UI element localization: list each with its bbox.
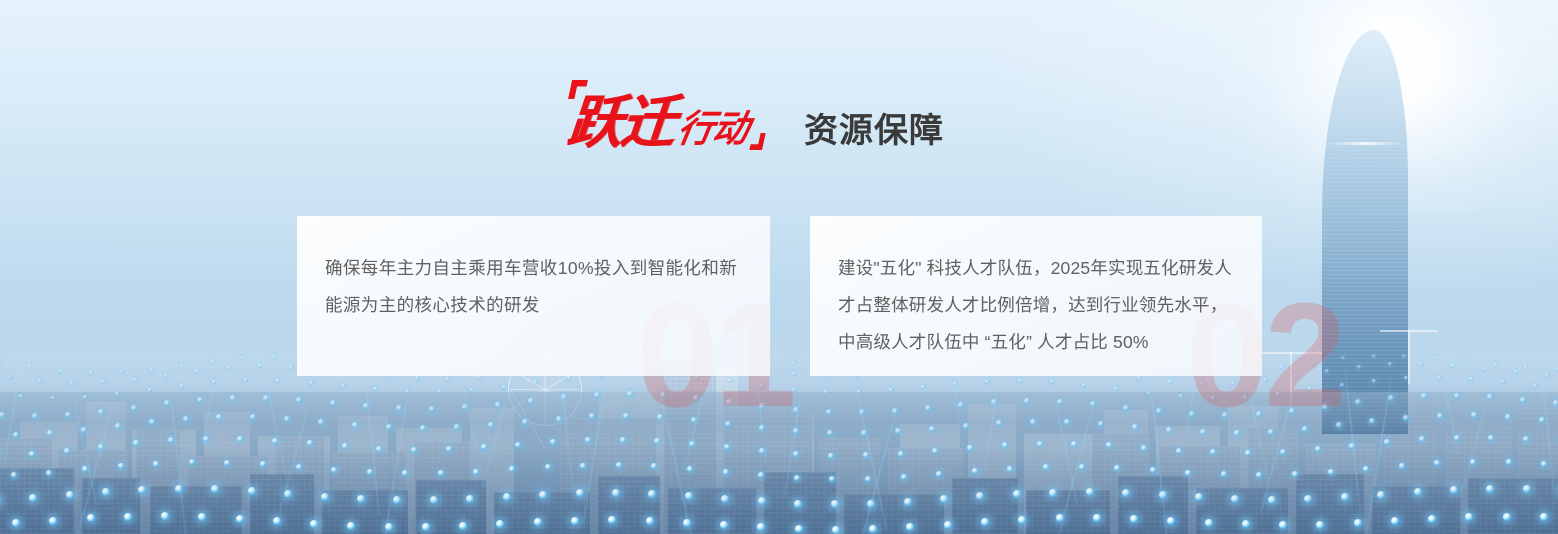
network-node-dot bbox=[906, 523, 914, 531]
network-node-dot bbox=[1024, 398, 1030, 404]
network-node-dot bbox=[161, 512, 169, 520]
network-node-dot bbox=[1486, 485, 1494, 493]
network-node-dot bbox=[180, 364, 184, 368]
network-node-dot bbox=[1056, 514, 1064, 522]
network-node-dot bbox=[958, 402, 964, 408]
network-node-dot bbox=[1553, 400, 1558, 406]
network-node-dot bbox=[1007, 466, 1013, 472]
network-node-dot bbox=[1355, 399, 1361, 405]
network-node-dot bbox=[567, 376, 571, 380]
network-node-dot bbox=[1279, 521, 1287, 529]
network-node-dot bbox=[1315, 446, 1321, 452]
network-node-dot bbox=[793, 407, 799, 413]
construction-crane bbox=[1408, 330, 1410, 384]
network-node-dot bbox=[1221, 471, 1227, 477]
network-node-dot bbox=[1520, 397, 1526, 403]
network-node-dot bbox=[150, 368, 154, 372]
network-node-dot bbox=[454, 424, 460, 430]
network-node-dot bbox=[585, 437, 591, 443]
network-node-dot bbox=[1433, 356, 1437, 360]
network-node-dot bbox=[832, 526, 840, 534]
network-node-dot bbox=[1388, 395, 1394, 401]
network-node-dot bbox=[793, 451, 799, 457]
city-skyline-background bbox=[0, 0, 1558, 534]
brand-logo-yueqian-xingdong: 跃迁 行动 bbox=[568, 96, 764, 150]
network-node-dot bbox=[944, 521, 952, 529]
network-node-dot bbox=[211, 360, 215, 364]
network-node-dot bbox=[51, 396, 55, 400]
network-node-dot bbox=[1372, 379, 1376, 383]
network-node-dot bbox=[310, 520, 318, 528]
network-node-dot bbox=[1086, 488, 1094, 496]
network-light-strand bbox=[2, 367, 21, 472]
network-node-dot bbox=[115, 392, 119, 396]
network-node-dot bbox=[1437, 413, 1443, 419]
network-node-dot bbox=[827, 430, 833, 436]
network-node-dot bbox=[1482, 367, 1486, 371]
network-node-dot bbox=[1434, 460, 1440, 466]
network-node-dot bbox=[230, 395, 236, 401]
network-node-dot bbox=[503, 493, 511, 501]
network-light-strand bbox=[1343, 358, 1362, 515]
network-node-dot bbox=[258, 364, 262, 368]
network-light-strand bbox=[853, 376, 888, 531]
network-node-dot bbox=[1399, 463, 1405, 469]
network-node-dot bbox=[502, 385, 506, 389]
network-node-dot bbox=[1341, 493, 1349, 501]
network-node-dot bbox=[32, 413, 38, 419]
network-node-dot bbox=[385, 523, 393, 531]
network-node-dot bbox=[539, 491, 547, 499]
network-node-dot bbox=[38, 379, 42, 383]
network-node-dot bbox=[687, 466, 693, 472]
network-light-strand bbox=[558, 358, 574, 489]
network-node-dot bbox=[1114, 387, 1118, 391]
network-node-dot bbox=[1185, 470, 1191, 476]
network-node-dot bbox=[0, 412, 5, 418]
network-node-dot bbox=[1523, 436, 1529, 442]
network-node-dot bbox=[1454, 393, 1460, 399]
network-node-dot bbox=[466, 495, 474, 503]
network-node-dot bbox=[415, 376, 419, 380]
network-node-dot bbox=[98, 409, 104, 415]
network-node-dot bbox=[1013, 490, 1021, 498]
network-light-strand bbox=[68, 376, 97, 506]
network-node-dot bbox=[1114, 465, 1120, 471]
network-node-dot bbox=[0, 496, 1, 504]
network-node-dot bbox=[1168, 380, 1172, 384]
construction-crane-jib bbox=[1380, 330, 1438, 332]
network-node-dot bbox=[0, 359, 1, 363]
network-node-dot bbox=[197, 397, 203, 403]
network-light-strand bbox=[1463, 385, 1492, 488]
network-node-dot bbox=[149, 419, 155, 425]
network-light-strand bbox=[983, 367, 1002, 472]
network-node-dot bbox=[724, 444, 730, 450]
network-node-dot bbox=[296, 397, 302, 403]
network-node-dot bbox=[64, 448, 70, 454]
network-node-dot bbox=[216, 414, 222, 420]
network-node-dot bbox=[66, 491, 74, 499]
network-light-strand bbox=[279, 385, 315, 513]
network-node-dot bbox=[646, 517, 654, 525]
network-node-dot bbox=[102, 488, 110, 496]
info-card-02: 建设"五化" 科技人才队伍，2025年实现五化研发人才占整体研发人才比例倍增，达… bbox=[810, 216, 1262, 376]
network-node-dot bbox=[272, 438, 278, 444]
network-node-dot bbox=[98, 444, 104, 450]
network-node-dot bbox=[58, 369, 62, 373]
network-node-dot bbox=[976, 492, 984, 500]
network-node-dot bbox=[720, 521, 728, 529]
network-node-dot bbox=[996, 420, 1002, 426]
info-card-01-text: 确保每年主力自主乘用车营收10%投入到智能化和新能源为主的核心技术的研发 bbox=[325, 250, 740, 324]
network-node-dot bbox=[393, 496, 401, 504]
network-node-dot bbox=[1328, 469, 1334, 475]
network-node-dot bbox=[509, 466, 515, 472]
network-node-dot bbox=[580, 463, 586, 469]
network-node-dot bbox=[1533, 384, 1537, 388]
network-node-dot bbox=[1256, 472, 1262, 478]
network-node-dot bbox=[446, 377, 450, 381]
network-node-dot bbox=[863, 452, 869, 458]
network-node-dot bbox=[1176, 448, 1182, 454]
network-node-dot bbox=[1159, 491, 1167, 499]
network-node-dot bbox=[612, 489, 620, 497]
network-node-dot bbox=[1106, 442, 1112, 448]
network-node-dot bbox=[203, 436, 209, 442]
network-node-dot bbox=[829, 476, 835, 482]
network-node-dot bbox=[1082, 383, 1086, 387]
network-node-dot bbox=[932, 448, 938, 454]
network-light-strand bbox=[583, 367, 610, 523]
network-node-dot bbox=[47, 430, 53, 436]
network-node-dot bbox=[556, 416, 562, 422]
network-node-dot bbox=[46, 470, 52, 476]
network-node-dot bbox=[1179, 394, 1183, 398]
network-light-strand bbox=[1147, 358, 1168, 534]
network-node-dot bbox=[758, 472, 764, 478]
network-node-dot bbox=[1122, 489, 1130, 497]
network-node-dot bbox=[1242, 520, 1250, 528]
network-node-dot bbox=[386, 424, 392, 430]
network-node-dot bbox=[168, 437, 174, 443]
network-light-strand bbox=[1539, 358, 1555, 489]
network-node-dot bbox=[608, 516, 616, 524]
network-node-dot bbox=[1404, 376, 1408, 380]
network-node-dot bbox=[496, 520, 504, 528]
network-node-dot bbox=[545, 464, 551, 470]
network-node-dot bbox=[824, 390, 828, 394]
network-node-dot bbox=[571, 517, 579, 525]
network-node-dot bbox=[561, 394, 567, 400]
network-node-dot bbox=[925, 405, 931, 411]
network-node-dot bbox=[1494, 363, 1498, 367]
network-node-dot bbox=[148, 388, 152, 392]
network-node-dot bbox=[1545, 373, 1549, 377]
network-node-dot bbox=[342, 443, 348, 449]
network-node-dot bbox=[892, 408, 898, 414]
network-node-dot bbox=[831, 500, 839, 508]
network-light-strand bbox=[1049, 376, 1078, 506]
network-node-dot bbox=[89, 371, 93, 375]
network-node-dot bbox=[967, 445, 973, 451]
network-node-dot bbox=[1049, 489, 1057, 497]
network-node-dot bbox=[430, 496, 438, 504]
network-node-dot bbox=[1130, 515, 1138, 523]
network-node-dot bbox=[164, 400, 170, 406]
network-node-dot bbox=[1079, 464, 1085, 470]
network-node-dot bbox=[1437, 376, 1441, 380]
network-node-dot bbox=[1195, 493, 1203, 501]
network-node-dot bbox=[1018, 379, 1022, 383]
network-node-dot bbox=[248, 487, 256, 495]
network-node-dot bbox=[263, 395, 269, 401]
quote-close-mark bbox=[749, 133, 766, 150]
network-node-dot bbox=[1388, 362, 1392, 366]
network-node-dot bbox=[211, 485, 219, 493]
network-node-dot bbox=[828, 453, 834, 459]
network-node-dot bbox=[1231, 495, 1239, 503]
network-node-dot bbox=[1454, 435, 1460, 441]
network-node-dot bbox=[1470, 459, 1476, 465]
network-node-dot bbox=[318, 419, 324, 425]
network-node-dot bbox=[1043, 464, 1049, 470]
network-node-dot bbox=[49, 517, 57, 525]
network-node-dot bbox=[19, 394, 23, 398]
network-node-dot bbox=[1488, 435, 1494, 441]
network-node-dot bbox=[1050, 380, 1054, 384]
network-node-dot bbox=[195, 369, 199, 373]
network-node-dot bbox=[1150, 467, 1156, 473]
network-node-dot bbox=[1018, 516, 1026, 524]
network-node-dot bbox=[429, 406, 435, 412]
network-node-dot bbox=[515, 442, 521, 448]
network-node-dot bbox=[1487, 394, 1493, 400]
network-node-dot bbox=[936, 471, 942, 477]
network-node-dot bbox=[273, 517, 281, 525]
network-node-dot bbox=[1463, 359, 1467, 363]
network-node-dot bbox=[683, 519, 691, 527]
network-light-strand bbox=[1441, 376, 1460, 455]
network-node-dot bbox=[284, 416, 290, 422]
network-node-dot bbox=[757, 523, 765, 531]
network-node-dot bbox=[972, 468, 978, 474]
network-node-dot bbox=[309, 381, 313, 385]
network-node-dot bbox=[576, 489, 584, 497]
network-node-dot bbox=[65, 412, 71, 418]
network-node-dot bbox=[198, 513, 206, 521]
network-node-dot bbox=[138, 486, 146, 494]
network-node-dot bbox=[7, 375, 11, 379]
network-node-dot bbox=[1414, 488, 1422, 496]
network-node-dot bbox=[1469, 377, 1473, 381]
network-light-strand bbox=[362, 358, 381, 515]
network-node-dot bbox=[861, 430, 867, 436]
network-node-dot bbox=[307, 440, 313, 446]
slide-title: 跃迁 行动 资源保障 bbox=[568, 96, 944, 150]
network-node-dot bbox=[651, 463, 657, 469]
network-node-dot bbox=[164, 374, 168, 378]
network-node-dot bbox=[347, 522, 355, 530]
network-node-dot bbox=[331, 467, 337, 473]
network-node-dot bbox=[867, 500, 875, 508]
network-node-dot bbox=[1377, 491, 1385, 499]
brand-sub-text: 行动 bbox=[675, 110, 752, 147]
network-node-dot bbox=[330, 400, 336, 406]
network-node-dot bbox=[1090, 401, 1096, 407]
network-node-dot bbox=[367, 469, 373, 475]
network-node-dot bbox=[28, 364, 32, 368]
network-node-dot bbox=[1402, 354, 1406, 358]
network-node-dot bbox=[244, 378, 248, 382]
network-node-dot bbox=[180, 384, 184, 388]
network-node-dot bbox=[1166, 427, 1172, 433]
network-node-dot bbox=[438, 389, 442, 393]
network-node-dot bbox=[153, 461, 159, 467]
network-node-dot bbox=[1132, 424, 1138, 430]
brand-main-text: 跃迁 bbox=[565, 94, 677, 151]
network-node-dot bbox=[81, 427, 87, 433]
network-light-strand bbox=[264, 376, 288, 480]
network-node-dot bbox=[723, 469, 729, 475]
network-node-dot bbox=[133, 440, 139, 446]
network-node-dot bbox=[550, 439, 556, 445]
network-node-dot bbox=[1539, 417, 1545, 423]
network-node-dot bbox=[224, 460, 230, 466]
network-light-strand bbox=[1363, 367, 1394, 534]
page-title: 资源保障 bbox=[804, 114, 944, 148]
network-node-dot bbox=[904, 498, 912, 506]
network-node-dot bbox=[648, 490, 656, 498]
network-node-dot bbox=[260, 461, 266, 467]
network-node-dot bbox=[289, 365, 293, 369]
network-node-dot bbox=[459, 522, 467, 530]
network-node-dot bbox=[889, 388, 893, 392]
network-node-dot bbox=[795, 525, 803, 533]
network-node-dot bbox=[1421, 393, 1427, 399]
network-node-dot bbox=[1357, 365, 1361, 369]
network-node-dot bbox=[183, 416, 189, 422]
network-node-dot bbox=[405, 389, 409, 393]
network-node-dot bbox=[1524, 365, 1528, 369]
network-node-dot bbox=[929, 426, 935, 432]
network-node-dot bbox=[1391, 517, 1399, 525]
network-node-dot bbox=[175, 485, 183, 493]
network-node-dot bbox=[87, 514, 95, 522]
network-node-dot bbox=[131, 405, 137, 411]
network-node-dot bbox=[227, 366, 231, 370]
network-node-dot bbox=[1093, 514, 1101, 522]
network-node-dot bbox=[1540, 513, 1548, 521]
network-node-dot bbox=[991, 399, 997, 405]
network-node-dot bbox=[589, 413, 595, 419]
network-node-dot bbox=[620, 437, 626, 443]
network-node-dot bbox=[623, 413, 629, 419]
network-node-dot bbox=[1363, 466, 1369, 472]
network-node-dot bbox=[721, 495, 729, 503]
network-node-dot bbox=[759, 448, 765, 454]
network-node-dot bbox=[420, 425, 426, 431]
network-node-dot bbox=[1403, 415, 1409, 421]
network-node-dot bbox=[133, 378, 137, 382]
network-node-dot bbox=[1205, 519, 1213, 527]
network-node-dot bbox=[616, 462, 622, 468]
network-node-dot bbox=[627, 391, 633, 397]
info-card-02-text: 建设"五化" 科技人才队伍，2025年实现五化研发人才占整体研发人才比例倍增，达… bbox=[838, 250, 1232, 361]
network-node-dot bbox=[1506, 459, 1512, 465]
network-node-dot bbox=[1037, 441, 1043, 447]
network-node-dot bbox=[985, 380, 989, 384]
network-node-dot bbox=[1268, 496, 1276, 504]
network-node-dot bbox=[794, 500, 802, 508]
network-node-dot bbox=[826, 409, 832, 415]
network-node-dot bbox=[276, 379, 280, 383]
network-node-dot bbox=[1523, 485, 1531, 493]
network-node-dot bbox=[118, 463, 124, 469]
network-node-dot bbox=[895, 428, 901, 434]
network-node-dot bbox=[1471, 412, 1477, 418]
network-node-dot bbox=[101, 380, 105, 384]
network-node-dot bbox=[13, 432, 19, 438]
network-node-dot bbox=[1450, 486, 1458, 494]
network-node-dot bbox=[470, 388, 474, 392]
network-node-dot bbox=[1372, 354, 1376, 358]
network-node-dot bbox=[1316, 521, 1324, 529]
presentation-slide: 01 02 跃迁 行动 资源保障 确保每年主力自主乘用车营收10%投入到智能化和… bbox=[0, 0, 1558, 534]
network-node-dot bbox=[1541, 461, 1547, 467]
network-node-dot bbox=[981, 518, 989, 526]
network-node-dot bbox=[940, 495, 948, 503]
network-node-dot bbox=[1030, 419, 1036, 425]
network-node-dot bbox=[1369, 418, 1375, 424]
network-node-dot bbox=[1419, 436, 1425, 442]
network-node-dot bbox=[1167, 517, 1175, 525]
network-node-dot bbox=[1419, 362, 1423, 366]
network-node-dot bbox=[396, 405, 402, 411]
network-node-dot bbox=[901, 474, 907, 480]
network-node-dot bbox=[352, 422, 358, 428]
network-node-dot bbox=[341, 384, 345, 388]
network-node-dot bbox=[898, 451, 904, 457]
info-card-01: 确保每年主力自主乘用车营收10%投入到智能化和新能源为主的核心技术的研发 bbox=[297, 216, 770, 376]
network-node-dot bbox=[357, 495, 365, 503]
network-node-dot bbox=[534, 380, 538, 384]
network-node-dot bbox=[1280, 449, 1286, 455]
network-node-dot bbox=[11, 472, 17, 478]
network-node-dot bbox=[1514, 370, 1518, 374]
network-node-dot bbox=[1098, 421, 1104, 427]
network-node-dot bbox=[1465, 513, 1473, 521]
network-node-dot bbox=[654, 438, 660, 444]
network-node-dot bbox=[115, 423, 121, 429]
network-node-dot bbox=[1304, 495, 1312, 503]
network-node-dot bbox=[83, 395, 87, 399]
network-node-dot bbox=[1503, 513, 1511, 521]
network-node-dot bbox=[212, 380, 216, 384]
network-node-dot bbox=[794, 475, 800, 481]
network-node-dot bbox=[1501, 380, 1505, 384]
network-node-dot bbox=[1156, 408, 1162, 414]
network-light-strand bbox=[382, 367, 413, 534]
network-node-dot bbox=[963, 423, 969, 429]
network-light-strand bbox=[203, 367, 217, 446]
network-node-dot bbox=[865, 476, 871, 482]
network-node-dot bbox=[488, 422, 494, 428]
network-light-strand bbox=[166, 358, 187, 534]
network-node-dot bbox=[376, 446, 382, 452]
network-node-dot bbox=[1137, 376, 1141, 380]
network-node-dot bbox=[522, 419, 528, 425]
